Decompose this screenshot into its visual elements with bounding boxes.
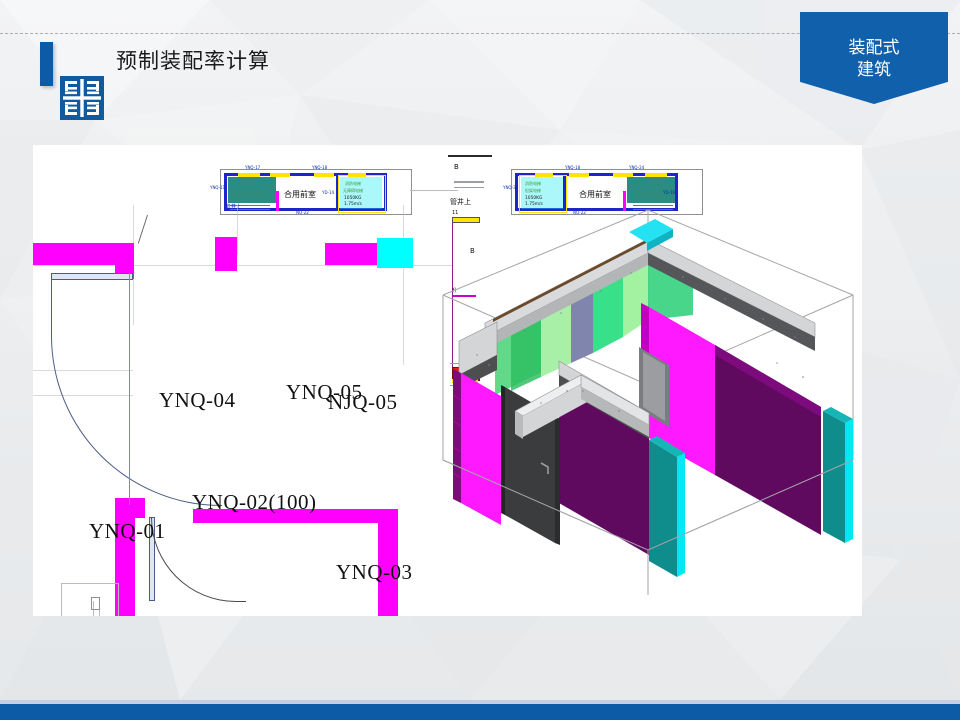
- bim-3d-model: [433, 195, 862, 605]
- leader-line-ynq-04: [138, 215, 148, 244]
- label-ynq-04: YNQ-04: [159, 388, 236, 413]
- label-ynq-01: YNQ-01: [89, 519, 166, 544]
- section-window-2-r: [569, 173, 589, 177]
- window-handle: [91, 597, 100, 610]
- corner-banner-line2: 建筑: [800, 60, 948, 82]
- wall-stub-mid: [215, 243, 237, 271]
- section-tag-1-r: YNQ-18: [565, 165, 580, 170]
- entry-door-edge: [501, 385, 505, 515]
- wall-njq-05-cyan: [377, 238, 413, 268]
- wall-ynq-05-horizontal: [325, 243, 377, 265]
- wall-stub-mid-top: [215, 237, 237, 247]
- label-ynq-03: YNQ-03: [336, 560, 413, 585]
- wall-magenta-left-edge: [453, 369, 461, 503]
- bim-isometric-view: [433, 195, 862, 605]
- lattice-window-logo-icon: [58, 74, 106, 122]
- wall-magenta-left: [461, 373, 501, 525]
- footer-bar: [0, 704, 960, 720]
- wall-purple-right: [715, 345, 821, 535]
- pier-teal-right: [823, 411, 845, 543]
- section-tag-2-r: YNQ-24: [629, 165, 644, 170]
- content-panel: 合用前室 消防电梯 无障碍电梯 1050KG 1.75m/s YNQ-17 YN…: [33, 145, 862, 616]
- entry-door-jamb: [555, 416, 560, 545]
- plan-gridline-v2: [237, 205, 238, 255]
- section-window-4-r: [645, 173, 667, 177]
- section-tag-3-r: YNQ-34: [503, 185, 518, 190]
- legend-rule-top: [448, 155, 492, 157]
- wall-ynq-01-nub: [115, 498, 145, 518]
- label-njq-05: NJQ-05: [328, 390, 398, 415]
- pier-teal-right-cyan-edge: [845, 419, 853, 543]
- header-accent-tick: [40, 42, 53, 86]
- corner-banner-line1: 装配式: [800, 38, 948, 60]
- plan-gridline-v3: [403, 205, 404, 365]
- window-frame-left: [61, 583, 119, 616]
- legend-bar-gray-1: [454, 181, 484, 183]
- floor-plan-drawing: YNQ-04 YNQ-05 NJQ-05 YNQ-02(100) YNQ-01 …: [33, 145, 453, 616]
- pier-teal-center: [649, 440, 677, 577]
- door-jamb-upper-left: [129, 273, 130, 505]
- section-elevator-label-2-r: 担架电梯: [525, 188, 541, 194]
- section-window-3-r: [613, 173, 633, 177]
- page-title: 预制装配率计算: [116, 45, 270, 75]
- legend-mark-1: B: [454, 163, 459, 171]
- legend-bar-gray-2: [454, 187, 484, 188]
- pier-teal-center-cyan-edge: [677, 453, 685, 577]
- label-ynq-02: YNQ-02(100): [192, 490, 316, 515]
- section-elevator-label-1-r: 消防电梯: [525, 181, 541, 187]
